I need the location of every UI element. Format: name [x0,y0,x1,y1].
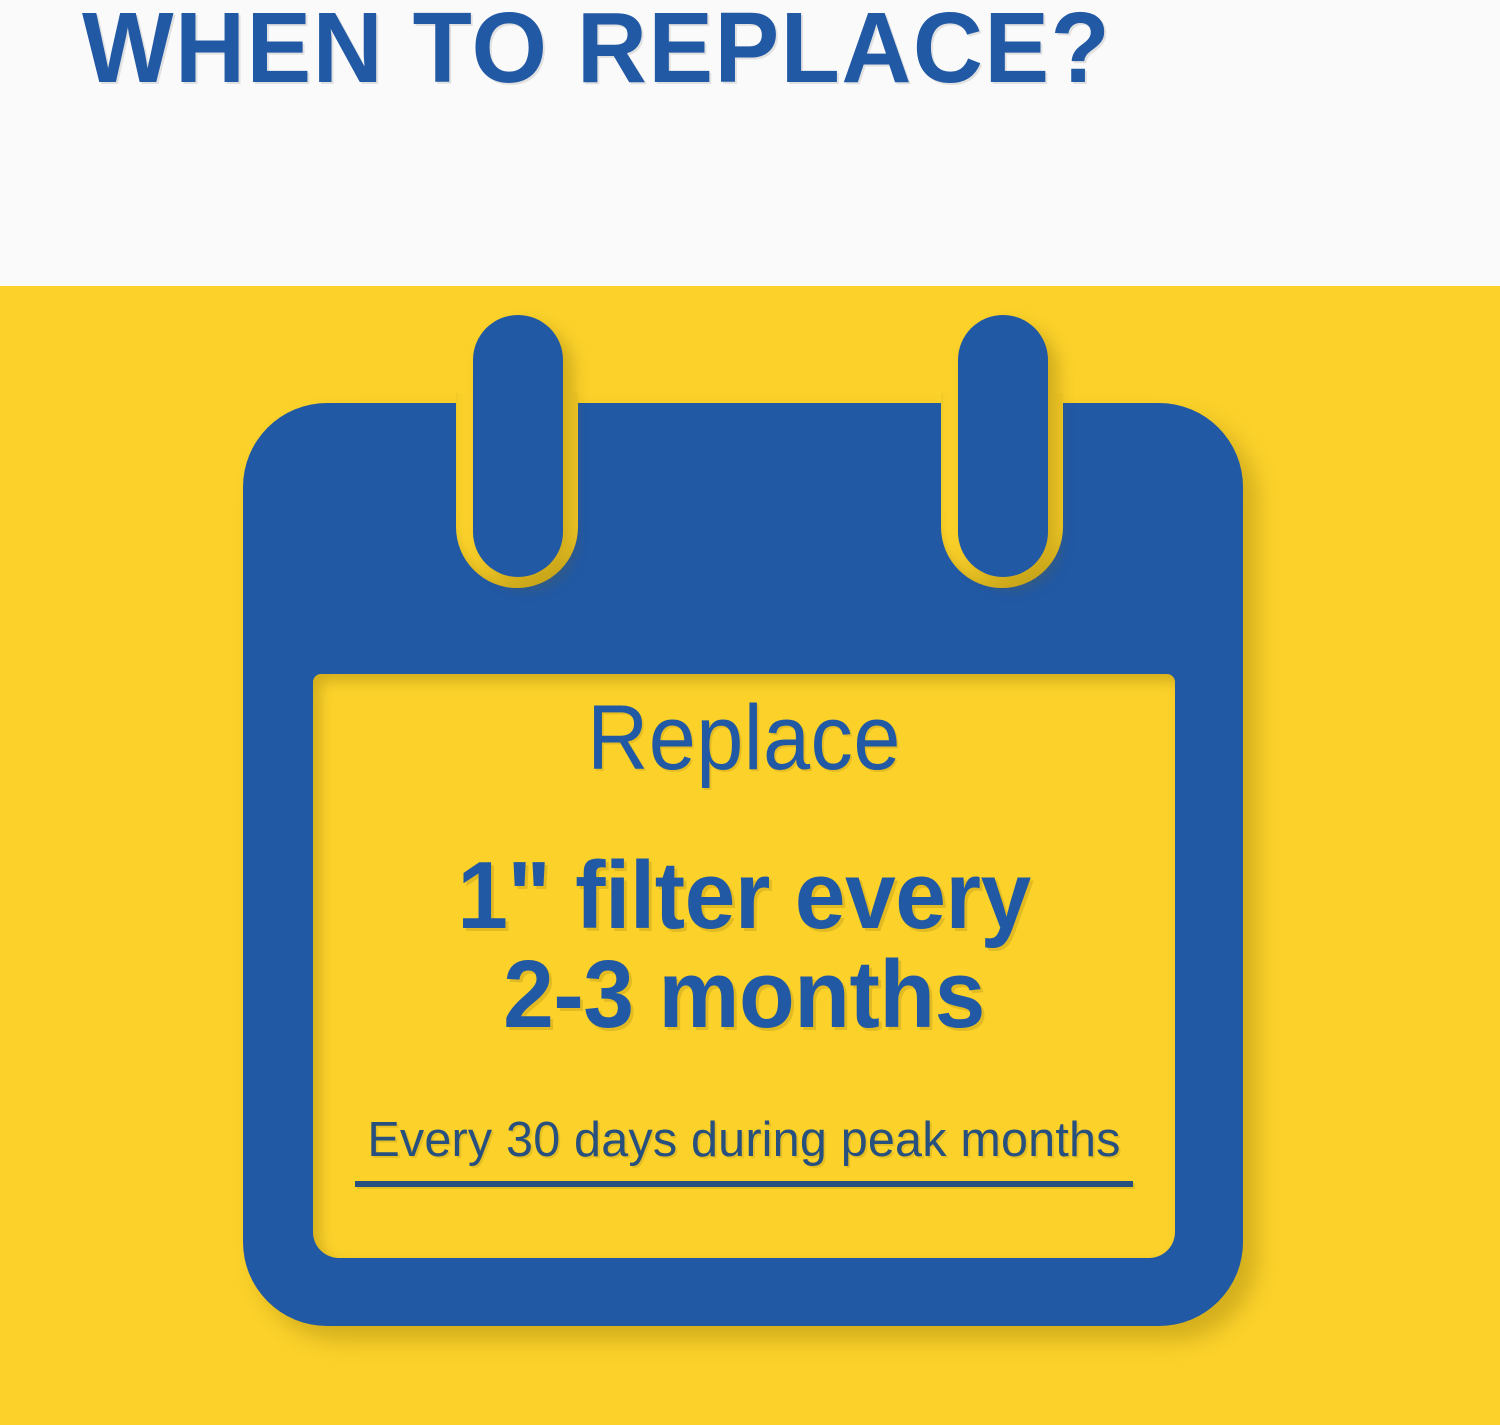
calendar-ring-right [958,315,1048,577]
sheet-footnote: Every 30 days during peak months [359,1111,1129,1169]
sheet-headline-line-2: 2-3 months [335,945,1154,1044]
calendar-icon: Replace 1" filter every 2-3 months Every… [243,403,1243,1326]
calendar-ring-left [473,315,563,577]
calendar-sheet-content: Replace 1" filter every 2-3 months Every… [313,674,1175,1258]
infographic-page: WHEN TO REPLACE? Replace 1" filter every… [0,0,1500,1425]
sheet-footnote-block: Every 30 days during peak months [355,1111,1133,1187]
sheet-headline: 1" filter every 2-3 months [335,846,1154,1044]
sheet-headline-line-1: 1" filter every [457,842,1031,949]
sheet-eyebrow-label: Replace [347,690,1140,786]
calendar-sheet: Replace 1" filter every 2-3 months Every… [313,674,1175,1258]
sheet-footnote-underline [355,1181,1133,1187]
yellow-content-panel: Replace 1" filter every 2-3 months Every… [0,286,1500,1425]
header-band: WHEN TO REPLACE? [0,0,1500,286]
page-title: WHEN TO REPLACE? [82,0,1111,104]
